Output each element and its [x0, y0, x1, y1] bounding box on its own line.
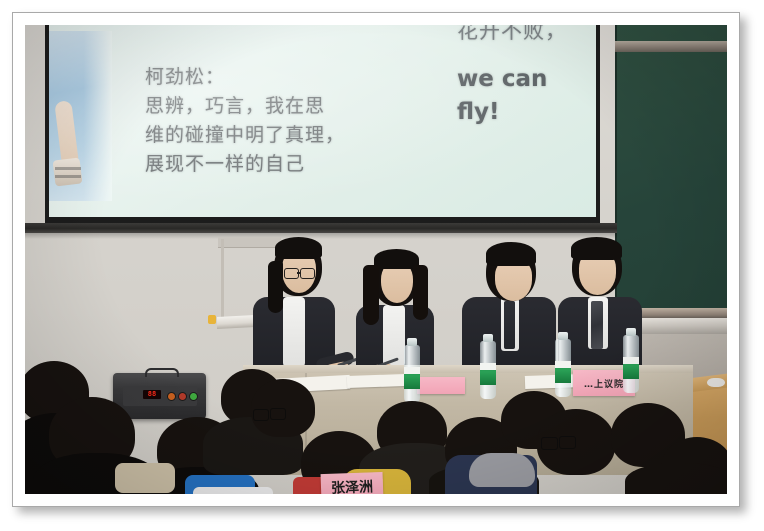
slide-text-right-chinese: 花开不败，: [457, 25, 596, 45]
necktie: [591, 301, 603, 349]
amplifier-knob-orange[interactable]: [167, 392, 176, 401]
yellow-clip: [208, 315, 216, 324]
amplifier-panel: 88: [123, 386, 197, 406]
photo-frame: 柯劲松： 思辨，巧言，我在思 维的碰撞中明了真理， 展现不一样的自己 花开不败，…: [12, 12, 740, 507]
slide-photo-hand: [49, 31, 112, 201]
water-bottle: [480, 341, 496, 399]
long-hair-right: [413, 265, 428, 320]
placard-near-text: 张泽洲: [331, 476, 374, 494]
glasses: [253, 409, 269, 421]
placard-pink-small: [417, 377, 465, 394]
grey-hood: [469, 453, 535, 487]
glasses-bridge: [297, 272, 300, 274]
placard-table-right-text: …上议院: [584, 377, 624, 390]
photograph: 柯劲松： 思辨，巧言，我在思 维的碰撞中明了真理， 展现不一样的自己 花开不败，…: [25, 25, 727, 494]
water-bottle: [404, 345, 420, 403]
bottle-cap: [407, 338, 417, 346]
paper-sheet: [347, 374, 405, 388]
bottle-label-highlight: [404, 367, 420, 374]
amplifier-knob-green[interactable]: [189, 392, 198, 401]
water-bottle: [623, 335, 639, 393]
computer-mouse: [707, 378, 725, 387]
chalk-tray-top: [615, 41, 727, 52]
wall-pillar-edge: [221, 239, 224, 327]
projection-screen: 柯劲松： 思辨，巧言，我在思 维的碰撞中明了真理， 展现不一样的自己 花开不败，…: [49, 25, 596, 217]
necktie: [504, 301, 515, 349]
bottle-cap: [626, 328, 636, 336]
amplifier-handle: [145, 368, 179, 377]
wall-ledge-shadow: [25, 233, 617, 239]
wall-ledge: [25, 223, 617, 233]
white-jacket: [193, 487, 273, 494]
slide-photo-fade: [49, 31, 112, 201]
ponytail: [268, 261, 283, 313]
slide-text-left: 柯劲松： 思辨，巧言，我在思 维的碰撞中明了真理， 展现不一样的自己: [145, 63, 425, 179]
glasses: [541, 437, 558, 450]
bottle-label-highlight: [480, 363, 496, 370]
bottle-label-highlight: [623, 357, 639, 364]
wall-recess: [218, 237, 281, 248]
amplifier-knob-red[interactable]: [178, 392, 187, 401]
long-hair-left: [363, 265, 379, 325]
bottle-cap: [483, 334, 493, 342]
bottle-label-highlight: [555, 361, 571, 368]
water-bottle: [555, 339, 571, 397]
glasses: [270, 408, 286, 420]
glasses: [559, 436, 576, 449]
slide-text-right-english: we can fly!: [457, 63, 596, 129]
bottle-cap: [558, 332, 568, 340]
beige-coat: [115, 463, 175, 493]
glasses: [300, 268, 315, 279]
placard-near: 张泽洲: [321, 472, 384, 494]
amplifier-display: 88: [143, 390, 161, 399]
